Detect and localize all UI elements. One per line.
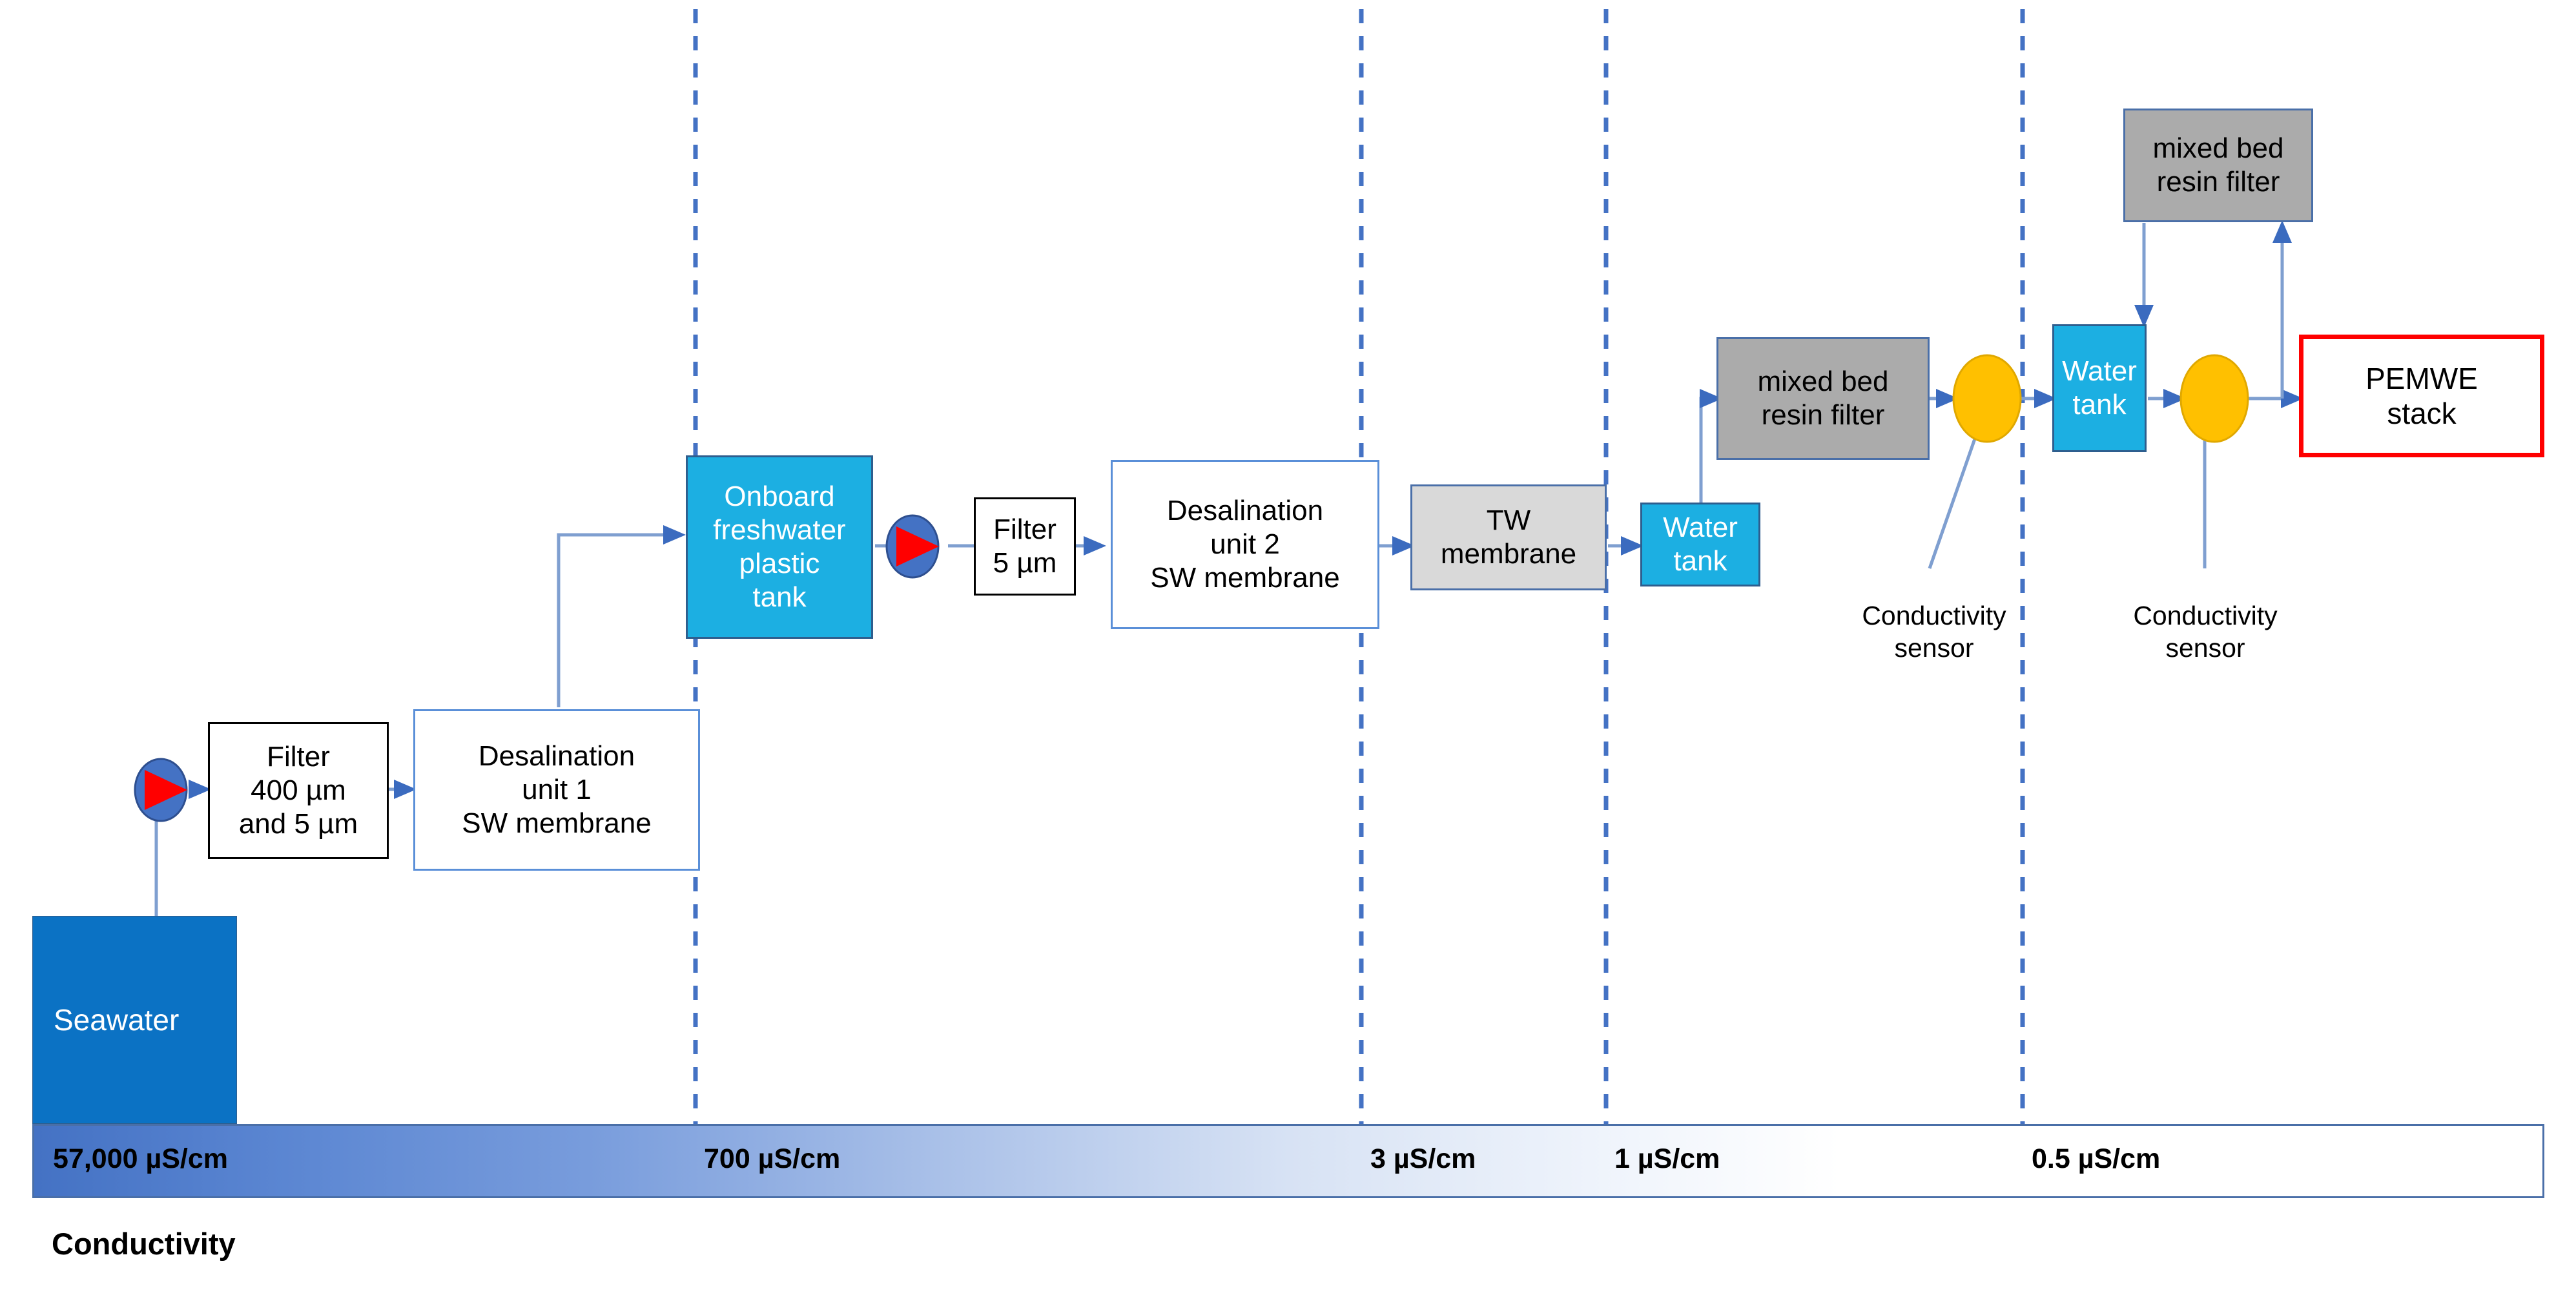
conductivity-tick-2: 700 µS/cm: [704, 1143, 840, 1175]
conductivity-sensor-2-icon[interactable]: [2179, 353, 2250, 447]
conductivity-sensor-1-icon[interactable]: [1952, 353, 2023, 447]
conn-watertank1-to-resin1: [1701, 399, 1718, 504]
node-seawater[interactable]: Seawater: [32, 916, 237, 1124]
node-filter-2[interactable]: Filter 5 µm: [974, 497, 1076, 596]
conductivity-sensor-1-label: Conductivity sensor: [1847, 599, 2021, 664]
pump-2-icon: [880, 514, 945, 583]
conn-desal1-to-onboard-tank: [559, 535, 681, 707]
node-pemwe-stack[interactable]: PEMWE stack: [2299, 335, 2544, 457]
node-onboard-freshwater-tank[interactable]: Onboard freshwater plastic tank: [686, 455, 873, 639]
node-water-tank-2[interactable]: Water tank: [2052, 324, 2147, 452]
node-desalination-unit-2[interactable]: Desalination unit 2 SW membrane: [1111, 460, 1379, 629]
pump-1-icon: [128, 757, 194, 826]
node-tw-membrane[interactable]: TW membrane: [1410, 484, 1607, 590]
conductivity-tick-4: 1 µS/cm: [1614, 1143, 1720, 1175]
node-desalination-unit-1[interactable]: Desalination unit 1 SW membrane: [413, 709, 700, 871]
conductivity-sensor-2-label: Conductivity sensor: [2118, 599, 2293, 664]
node-mixed-bed-resin-filter-2[interactable]: mixed bed resin filter: [2123, 109, 2313, 222]
conductivity-tick-3: 3 µS/cm: [1370, 1143, 1476, 1175]
conductivity-tick-1: 57,000 µS/cm: [53, 1143, 228, 1175]
conductivity-caption: Conductivity: [52, 1226, 236, 1261]
conductivity-gradient-bar: [32, 1124, 2544, 1198]
tether-sensor1: [1930, 431, 1977, 568]
node-filter-1[interactable]: Filter 400 µm and 5 µm: [208, 722, 389, 859]
diagram-canvas: Seawater Filter 400 µm and 5 µm Desalina…: [0, 0, 2576, 1297]
conductivity-tick-5: 0.5 µS/cm: [2032, 1143, 2160, 1175]
node-water-tank-1[interactable]: Water tank: [1640, 503, 1760, 586]
node-mixed-bed-resin-filter-1[interactable]: mixed bed resin filter: [1716, 337, 1930, 460]
